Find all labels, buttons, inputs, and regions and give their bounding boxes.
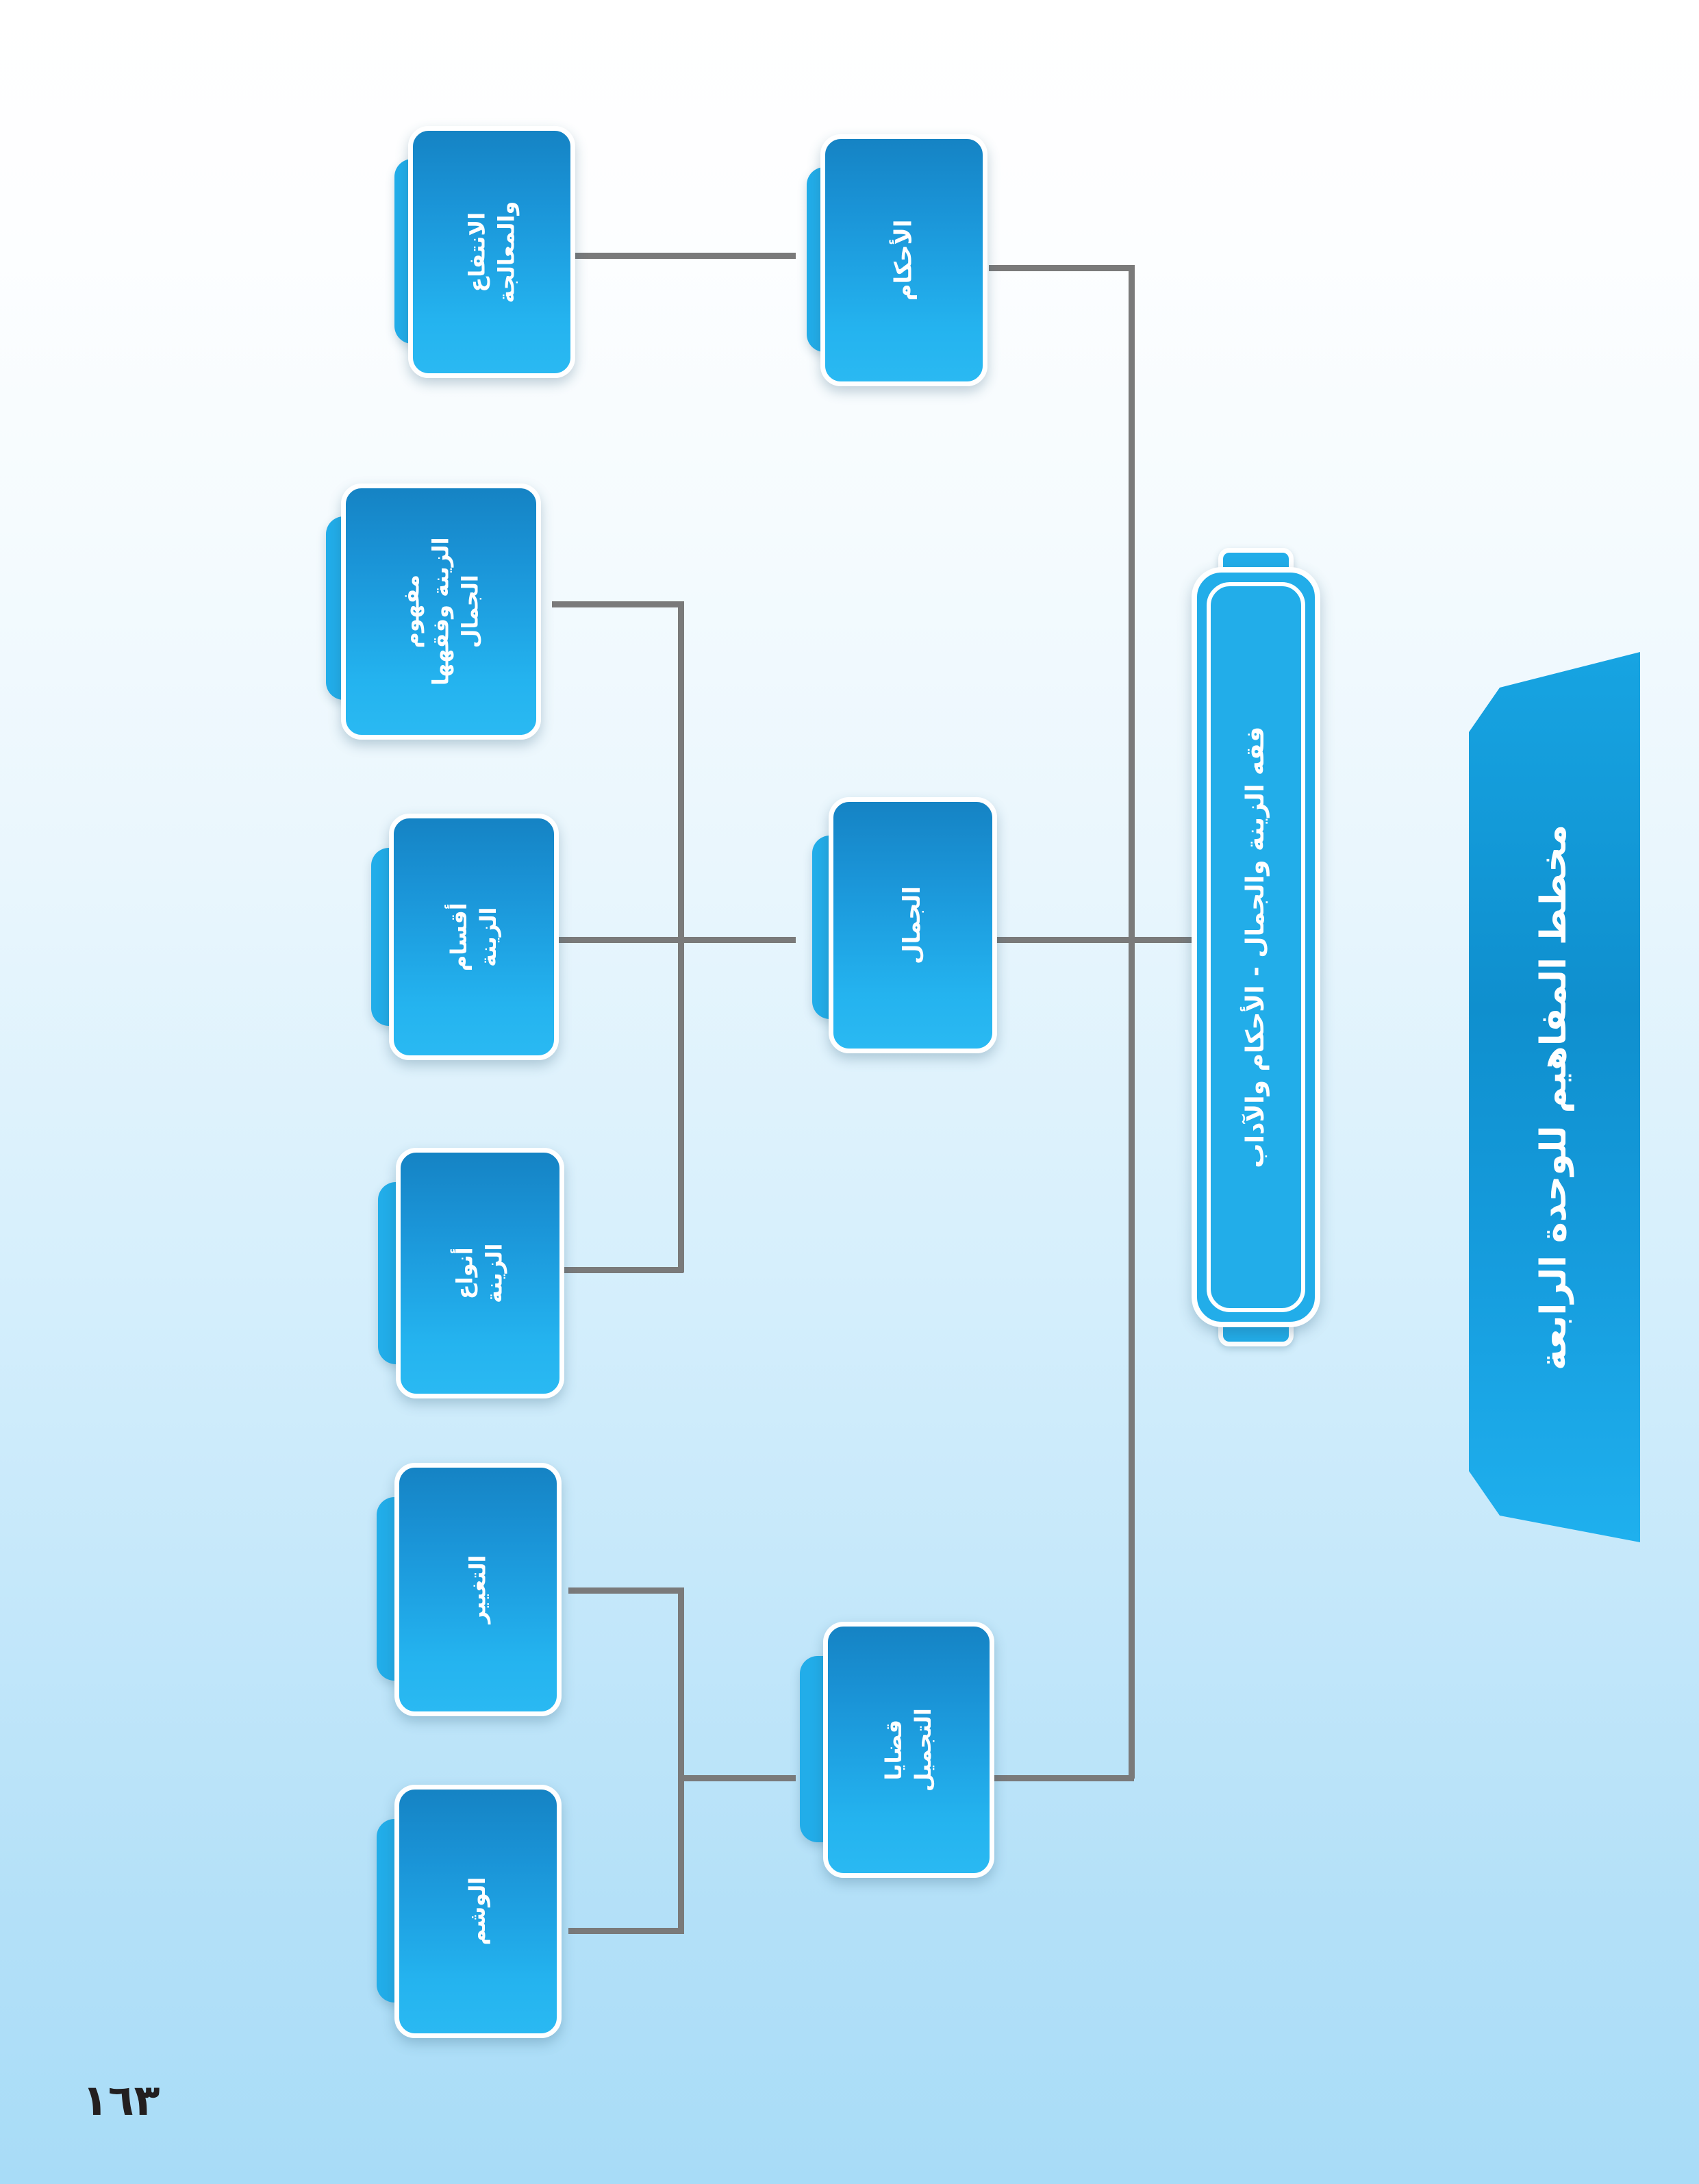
node-washm[interactable]: الوشم [377, 1781, 582, 2034]
node-card[interactable]: مفهوم الزينة وفقهها الجمال [341, 484, 541, 740]
node-card[interactable]: الجمال [829, 797, 997, 1053]
node-card[interactable]: أقسام الزينة [389, 814, 559, 1060]
node-mafhoum[interactable]: مفهوم الزينة وفقهها الجمال [322, 479, 548, 740]
connector-jamal-mafhoum [552, 601, 683, 607]
node-label: الجمال [897, 886, 929, 964]
root-label: فقه الزينة والجمال - الأحكام والآداب [1239, 727, 1273, 1168]
node-card[interactable]: الانتفاع والمعالجة [408, 126, 575, 378]
node-card[interactable]: الوشم [394, 1785, 562, 2038]
node-aqsam[interactable]: أقسام الزينة [363, 808, 568, 1062]
node-label: الأحكام [888, 220, 920, 301]
unit-title-banner: مخطط المفاهيم للوحدة الرابعة [1469, 652, 1640, 1542]
connector-qadaya-bus-horizontal [678, 1775, 796, 1781]
connector-spine-ahkam [989, 265, 1134, 271]
node-intifaa[interactable]: الانتفاع والمعالجة [383, 116, 575, 390]
connector-jamal-bus-horizontal [678, 937, 796, 943]
connector-ahkam-intifaa [568, 253, 796, 259]
node-label: الوشم [463, 1877, 492, 1946]
node-qadaya[interactable]: قضايا التجميل [794, 1616, 1007, 1877]
connector-spine-qadaya [989, 1775, 1134, 1781]
node-label: التغيير [463, 1555, 492, 1624]
connector-qadaya-washm [568, 1928, 683, 1934]
node-card[interactable]: أنواع الزينة [396, 1148, 564, 1398]
node-label: الانتفاع والمعالجة [462, 201, 521, 303]
connector-qadaya-bus-vertical [678, 1587, 684, 1934]
capsule-body[interactable]: فقه الزينة والجمال - الأحكام والآداب [1192, 567, 1320, 1327]
node-anwaa[interactable]: أنواع الزينة [377, 1144, 582, 1397]
node-label: أنواع الزينة [451, 1243, 509, 1303]
page-number: ١٦٣ [82, 2075, 160, 2125]
node-label: مفهوم الزينة وفقهها الجمال [397, 538, 486, 686]
node-label: أقسام الزينة [444, 903, 503, 971]
node-jamal[interactable]: الجمال [808, 789, 1014, 1063]
node-card[interactable]: الأحكام [820, 134, 987, 386]
node-ahkam[interactable]: الأحكام [796, 125, 987, 399]
connector-jamal-aqsam [552, 937, 683, 943]
node-label: قضايا التجميل [879, 1708, 938, 1792]
banner-title: مخطط المفاهيم للوحدة الرابعة [1532, 824, 1576, 1370]
node-root-capsule[interactable]: فقه الزينة والجمال - الأحكام والآداب [1192, 548, 1320, 1346]
node-taghyeer[interactable]: التغيير [377, 1459, 582, 1712]
connector-spine-vertical [1129, 265, 1135, 1779]
capsule-inner-border: فقه الزينة والجمال - الأحكام والآداب [1207, 582, 1305, 1312]
node-card[interactable]: قضايا التجميل [823, 1622, 994, 1878]
node-card[interactable]: التغيير [394, 1463, 562, 1716]
connector-qadaya-taghyeer [568, 1587, 683, 1594]
